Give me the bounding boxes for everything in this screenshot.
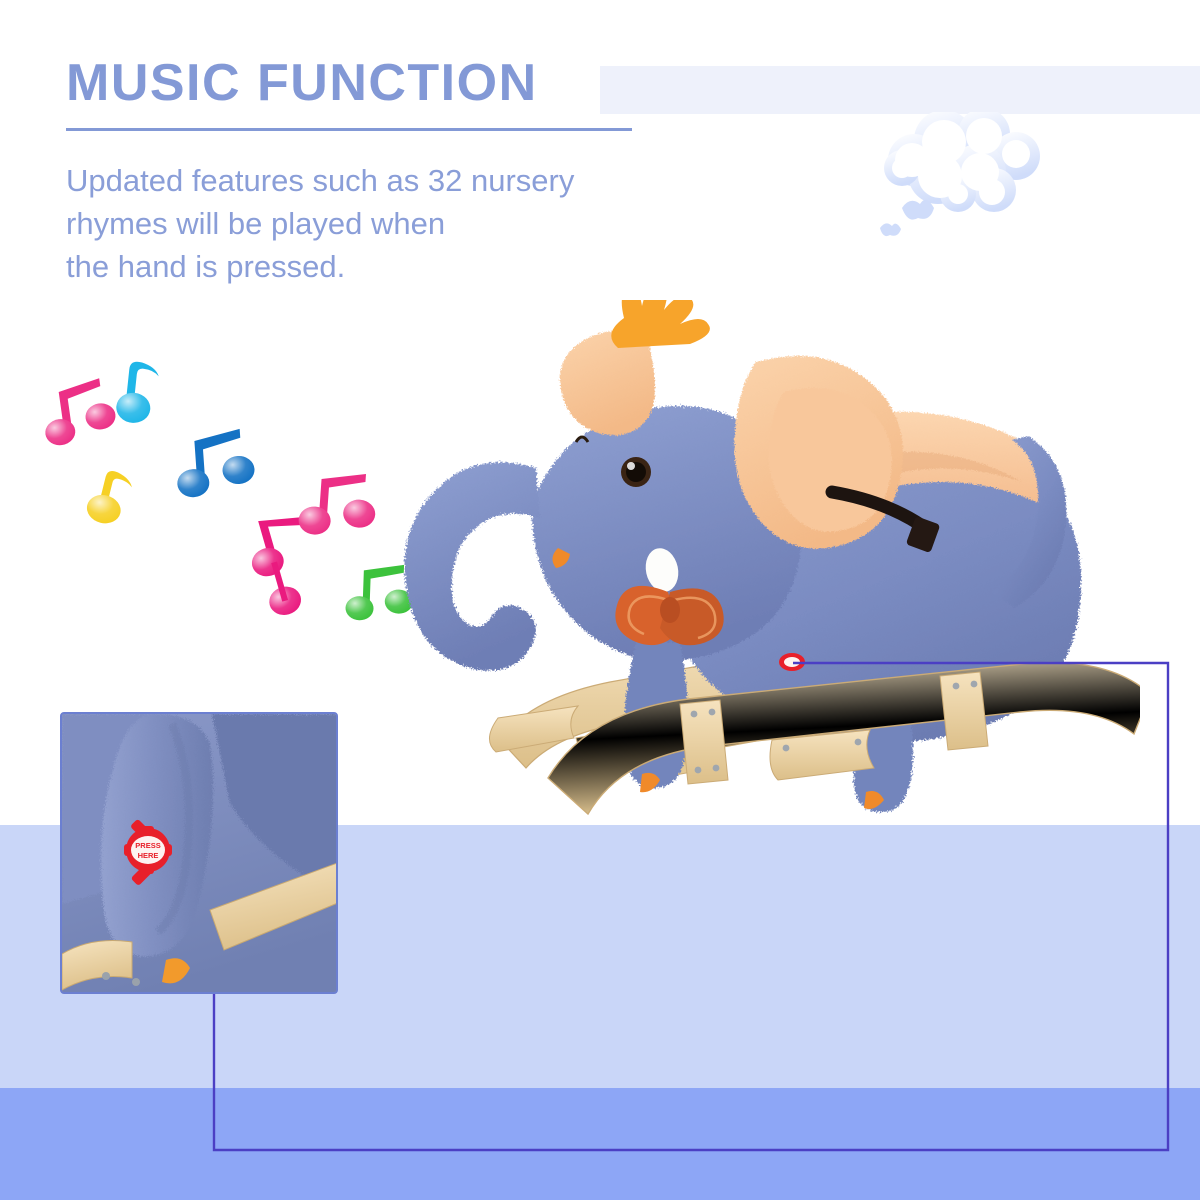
marketing-image: MUSIC FUNCTION Updated features such as … [0, 0, 1200, 1200]
inset-closeup-press-here: PRESS HERE [60, 712, 338, 994]
inset-press-here-label-line1: PRESS [135, 841, 160, 850]
inset-press-here-label-line2: HERE [138, 851, 159, 860]
callout-connector [0, 0, 1200, 1200]
